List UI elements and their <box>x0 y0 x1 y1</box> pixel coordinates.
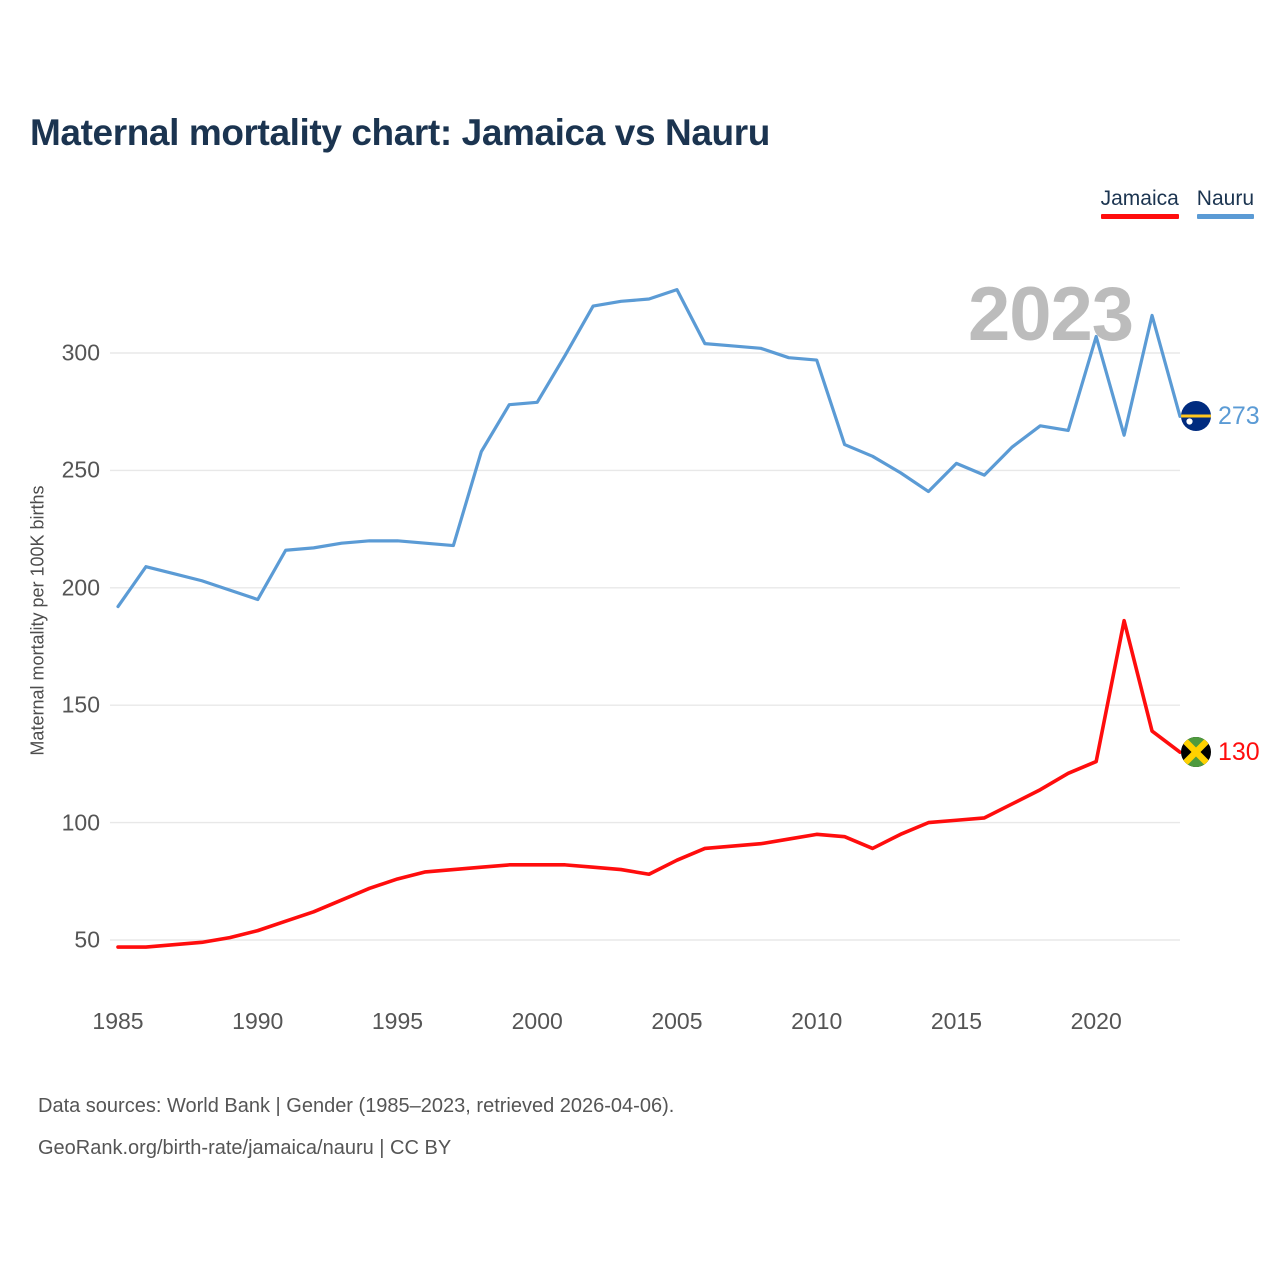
series-lines <box>118 290 1180 947</box>
jamaica-flag-icon <box>1181 737 1211 767</box>
series-line-nauru <box>118 290 1180 607</box>
footer-line-1: Data sources: World Bank | Gender (1985–… <box>38 1085 674 1127</box>
end-value-jamaica: 130 <box>1218 738 1260 767</box>
end-marker-jamaica[interactable]: 130 <box>1181 737 1260 767</box>
nauru-flag-icon <box>1181 401 1211 431</box>
end-value-nauru: 273 <box>1218 402 1260 431</box>
footer-attribution: Data sources: World Bank | Gender (1985–… <box>38 1085 674 1169</box>
series-line-jamaica <box>118 621 1180 947</box>
footer-line-2: GeoRank.org/birth-rate/jamaica/nauru | C… <box>38 1127 674 1169</box>
chart-page: Maternal mortality chart: Jamaica vs Nau… <box>0 0 1280 1280</box>
end-marker-nauru[interactable]: 273 <box>1181 401 1260 431</box>
